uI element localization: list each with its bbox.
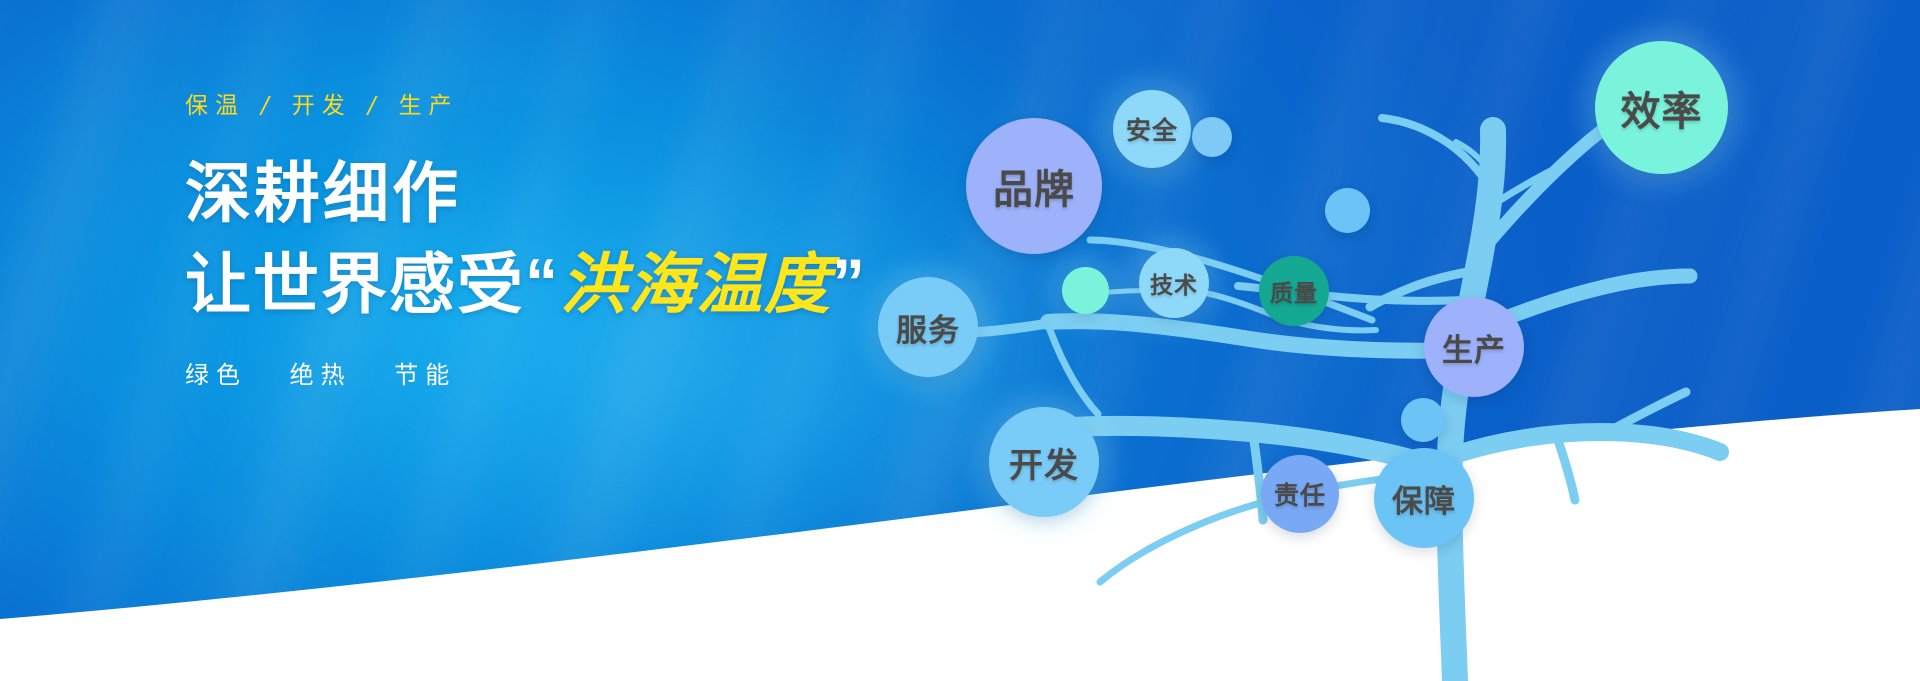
- sub-item-2: 绝热: [290, 361, 352, 389]
- bubble-dot-dot3[interactable]: [1062, 267, 1109, 314]
- quote-open: “: [525, 245, 560, 319]
- bubble-label: 品牌: [993, 157, 1075, 215]
- bubble-zeren[interactable]: 责任: [1261, 455, 1339, 533]
- bubble-label: 效率: [1621, 79, 1703, 137]
- headline-line-2-prefix: 让世界感受: [185, 247, 525, 321]
- bubble-shengchan[interactable]: 生产: [1424, 297, 1524, 397]
- hero-copy: 保温/开发/生产 深耕细作 让世界感受“洪海温度” 绿色 绝热 节能: [185, 95, 945, 390]
- headline-line-2: 让世界感受“洪海温度”: [185, 249, 945, 320]
- bubble-jishu[interactable]: 技术: [1139, 248, 1209, 318]
- sub-item-3: 节能: [394, 361, 456, 389]
- bubble-dot-dot4[interactable]: [1401, 398, 1445, 442]
- eyebrow-item-3: 生产: [399, 93, 459, 119]
- bubble-label: 生产: [1442, 325, 1506, 370]
- bubble-pinpai[interactable]: 品牌: [966, 118, 1102, 254]
- sub-item-1: 绿色: [185, 361, 247, 389]
- eyebrow-separator-1: /: [245, 93, 292, 119]
- sub-gap-2: [352, 361, 395, 389]
- bottom-white-curve: [0, 351, 1920, 681]
- bubble-label: 技术: [1150, 266, 1198, 300]
- eyebrow-item-1: 保温: [185, 93, 245, 119]
- bubble-label: 责任: [1274, 476, 1326, 512]
- bubble-zhiliang[interactable]: 质量: [1259, 256, 1329, 326]
- sub-keywords: 绿色 绝热 节能: [185, 355, 945, 390]
- bubble-kaifa[interactable]: 开发: [989, 407, 1099, 517]
- headline-line-1: 深耕细作: [185, 158, 945, 229]
- quote-close: ”: [832, 245, 867, 319]
- hero-banner: 效率安全品牌技术质量服务生产开发责任保障 保温/开发/生产 深耕细作 让世界感受…: [0, 0, 1920, 681]
- eyebrow-keywords: 保温/开发/生产: [185, 95, 945, 118]
- bubble-dot-dot2[interactable]: [1325, 188, 1370, 233]
- bubble-label: 安全: [1126, 111, 1178, 147]
- bubble-label: 保障: [1392, 476, 1456, 521]
- eyebrow-item-2: 开发: [292, 93, 352, 119]
- headline-highlight: 洪海温度: [560, 247, 832, 321]
- bubble-label: 开发: [1009, 438, 1079, 487]
- bubble-anquan[interactable]: 安全: [1113, 90, 1191, 168]
- bubble-xiaolv[interactable]: 效率: [1595, 41, 1728, 174]
- sub-gap-1: [247, 361, 290, 389]
- bubble-dot-dot1[interactable]: [1192, 117, 1232, 157]
- bubble-baozhang[interactable]: 保障: [1374, 448, 1474, 548]
- bubble-label: 质量: [1270, 274, 1318, 308]
- eyebrow-separator-2: /: [352, 93, 399, 119]
